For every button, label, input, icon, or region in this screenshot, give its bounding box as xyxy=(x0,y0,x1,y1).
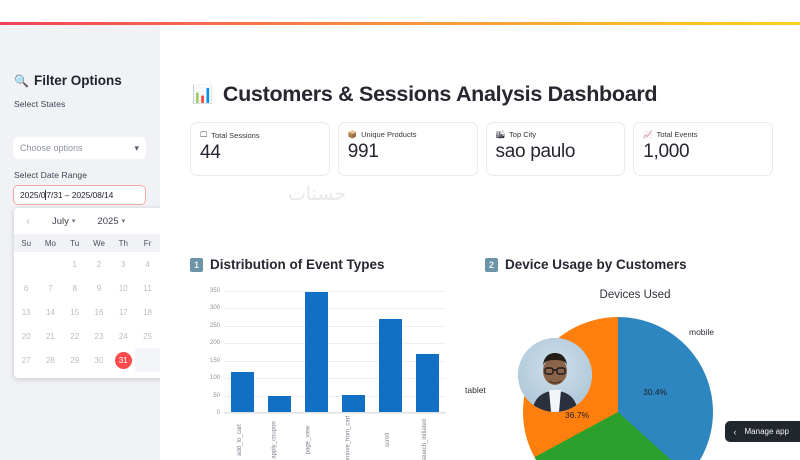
calendar-day[interactable]: 24 xyxy=(111,324,135,348)
bar-wrapper xyxy=(261,291,298,413)
calendar-day[interactable]: 11 xyxy=(135,276,159,300)
calendar-day[interactable]: 1 xyxy=(63,252,87,276)
bar[interactable] xyxy=(379,319,402,413)
calendar-day[interactable]: 20 xyxy=(14,324,38,348)
states-placeholder: Choose options xyxy=(20,143,83,153)
cityscape-icon: 🏙 xyxy=(496,130,506,139)
metric-card: 🖵Total Sessions44 xyxy=(190,122,330,176)
bar-chart-x-tick-label: scroll xyxy=(385,433,391,447)
bar-wrapper xyxy=(372,291,409,413)
bar-chart-x-tick-label: page_view xyxy=(306,426,312,455)
metric-card: 📦Unique Products991 xyxy=(338,122,478,176)
bar-chart-y-tick-label: 350 xyxy=(210,288,220,294)
chart-increasing-icon: 📈 xyxy=(643,130,652,139)
calendar-day[interactable]: 10 xyxy=(111,276,135,300)
sidebar-title: 🔍 Filter Options xyxy=(14,73,122,88)
metric-card-label-text: Total Sessions xyxy=(211,131,259,140)
calendar-weekday-row: SuMoTuWeThFrSa xyxy=(14,234,184,252)
page-title: 📊 Customers & Sessions Analysis Dashboar… xyxy=(192,82,657,107)
calendar-header: ‹ July ▾ 2025 ▾ › xyxy=(14,208,184,234)
metric-card-value: sao paulo xyxy=(496,141,616,163)
bar-chart-x-tick-label: search_initiated xyxy=(422,419,428,460)
calendar-day[interactable]: 14 xyxy=(38,300,62,324)
bar-wrapper xyxy=(224,291,261,413)
calendar-day[interactable]: 28 xyxy=(38,348,62,372)
calendar-year-label: 2025 xyxy=(97,216,118,227)
metric-card-label-text: Top City xyxy=(509,130,536,139)
calendar-day[interactable]: 4 xyxy=(135,252,159,276)
page-title-text: Customers & Sessions Analysis Dashboard xyxy=(223,82,657,107)
calendar-weekday: Fr xyxy=(135,234,159,252)
bar-chart-event-types: 050100150200250300350 add_to_cartapply_c… xyxy=(190,283,455,460)
magnifier-icon: 🔍 xyxy=(14,74,29,88)
calendar-day[interactable]: 16 xyxy=(87,300,111,324)
calendar-day[interactable]: 2 xyxy=(87,252,111,276)
sidebar: 🔍 Filter Options Select States Choose op… xyxy=(0,25,160,460)
calendar-day[interactable]: 23 xyxy=(87,324,111,348)
metric-card: 🏙Top Citysao paulo xyxy=(486,122,626,176)
bar-chart-y-tick-label: 300 xyxy=(210,305,220,311)
metric-card-label: 📦Unique Products xyxy=(348,130,468,139)
calendar-day[interactable]: 6 xyxy=(14,276,38,300)
bar-chart-y-tick-label: 100 xyxy=(210,375,220,381)
bar[interactable] xyxy=(342,395,365,413)
bar-chart-x-tick-label: apply_coupon xyxy=(271,421,277,458)
calendar-day[interactable]: 7 xyxy=(38,276,62,300)
section-header-device-usage: 2 Device Usage by Customers xyxy=(485,257,687,272)
select-states-label: Select States xyxy=(14,99,65,109)
metric-card-label: 📈Total Events xyxy=(643,130,763,139)
chevron-down-icon: ▾ xyxy=(72,217,76,225)
bar-wrapper xyxy=(298,291,335,413)
calendar-weekday: Th xyxy=(111,234,135,252)
calendar-weekday: Su xyxy=(14,234,38,252)
metric-card: 📈Total Events1,000 xyxy=(633,122,773,176)
manage-app-button[interactable]: ‹ Manage app xyxy=(725,421,800,442)
x-tick-cell: scroll xyxy=(373,415,404,443)
x-tick-cell: search_initiated xyxy=(404,415,446,443)
calendar-day[interactable]: 15 xyxy=(63,300,87,324)
bar-chart-x-tick-label: add_to_cart xyxy=(237,424,243,456)
calendar-day-label: 31 xyxy=(115,352,132,369)
calendar-day-empty xyxy=(14,252,38,276)
states-multiselect[interactable]: Choose options ▾ xyxy=(13,137,146,159)
bar-chart-x-axis xyxy=(224,412,446,413)
user-avatar[interactable] xyxy=(518,338,592,412)
bar-chart-x-tick-label: remove_from_cart xyxy=(346,416,352,460)
calendar-weekday: We xyxy=(87,234,111,252)
calendar-prev-month-button[interactable]: ‹ xyxy=(22,216,34,227)
bar-wrapper xyxy=(335,291,372,413)
bar-chart-y-tick-label: 50 xyxy=(213,393,220,399)
x-tick-cell: apply_coupon xyxy=(256,415,293,443)
bar-chart-bars xyxy=(224,291,446,413)
x-tick-cell: page_view xyxy=(293,415,324,443)
calendar-year-select[interactable]: 2025 ▾ xyxy=(97,216,125,227)
desktop-computer-icon: 🖵 xyxy=(200,130,207,140)
calendar-weekday: Mo xyxy=(38,234,62,252)
bar-wrapper xyxy=(409,291,446,413)
date-picker-popover[interactable]: ‹ July ▾ 2025 ▾ › SuMoTuWeThFrSa 1234567… xyxy=(14,208,184,378)
watermark: حسنات xyxy=(288,183,346,206)
calendar-day[interactable]: 8 xyxy=(63,276,87,300)
calendar-day[interactable]: 29 xyxy=(63,348,87,372)
pie-percent-tablet: 36.7% xyxy=(565,410,589,420)
metric-card-value: 44 xyxy=(200,142,320,164)
date-value-end: 7/31 – 2025/08/14 xyxy=(46,190,113,200)
select-date-range-label: Select Date Range xyxy=(14,170,87,180)
main-content: 📊 Customers & Sessions Analysis Dashboar… xyxy=(160,25,800,460)
bar-chart-y-tick-label: 150 xyxy=(210,358,220,364)
package-icon: 📦 xyxy=(348,130,357,139)
metric-card-label: 🖵Total Sessions xyxy=(200,130,320,140)
bar-chart-y-tick-label: 250 xyxy=(210,323,220,329)
calendar-day-empty xyxy=(38,252,62,276)
chevron-down-icon: ▾ xyxy=(122,217,126,225)
calendar-day[interactable]: 22 xyxy=(63,324,87,348)
pie-percent-mobile: 30.4% xyxy=(643,387,667,397)
bar-chart-x-tick-labels: add_to_cartapply_couponpage_viewremove_f… xyxy=(224,415,446,443)
section-badge: 2 xyxy=(485,258,498,272)
bar[interactable] xyxy=(305,292,328,413)
section-title: Distribution of Event Types xyxy=(210,257,385,272)
calendar-day[interactable]: 3 xyxy=(111,252,135,276)
calendar-month-select[interactable]: July ▾ xyxy=(52,216,75,227)
x-tick-cell: remove_from_cart xyxy=(324,415,373,443)
calendar-weekday: Tu xyxy=(63,234,87,252)
bar[interactable] xyxy=(416,354,439,413)
calendar-day[interactable]: 21 xyxy=(38,324,62,348)
pie-label-tablet: tablet xyxy=(465,385,486,395)
metric-card-label: 🏙Top City xyxy=(496,130,616,139)
sidebar-title-text: Filter Options xyxy=(34,73,122,88)
bar[interactable] xyxy=(231,372,254,413)
calendar-day[interactable]: 25 xyxy=(135,324,159,348)
metric-card-label-text: Unique Products xyxy=(361,130,416,139)
calendar-day[interactable]: 30 xyxy=(87,348,111,372)
calendar-day[interactable]: 17 xyxy=(111,300,135,324)
app-root: Share ☆ ╱ ⎕ ⋮ 🔍 Filter Options Select St… xyxy=(0,0,800,460)
bar-chart-icon: 📊 xyxy=(192,85,213,105)
metric-card-row: 🖵Total Sessions44📦Unique Products991🏙Top… xyxy=(190,122,773,176)
calendar-day-empty xyxy=(135,348,159,372)
calendar-day[interactable]: 27 xyxy=(14,348,38,372)
metric-card-value: 991 xyxy=(348,141,468,163)
pie-label-mobile: mobile xyxy=(689,327,714,337)
bar-chart-y-tick-label: 200 xyxy=(210,340,220,346)
metric-card-label-text: Total Events xyxy=(657,130,698,139)
text-cursor xyxy=(45,190,46,200)
bar-chart-y-tick-label: 0 xyxy=(217,410,220,416)
gridline xyxy=(224,413,446,414)
bar[interactable] xyxy=(268,396,291,413)
calendar-day[interactable]: 18 xyxy=(135,300,159,324)
bar-chart-plot-area: 050100150200250300350 xyxy=(224,291,446,413)
calendar-day[interactable]: 13 xyxy=(14,300,38,324)
date-value-start: 2025/0 xyxy=(20,190,45,200)
chevron-left-icon: ‹ xyxy=(734,427,737,437)
pie-chart-title: Devices Used xyxy=(485,289,785,301)
calendar-month-label: July xyxy=(52,216,69,227)
chevron-down-icon[interactable]: ▾ xyxy=(134,143,139,154)
manage-app-label: Manage app xyxy=(745,427,789,436)
section-title: Device Usage by Customers xyxy=(505,257,687,272)
x-tick-cell: add_to_cart xyxy=(224,415,256,443)
metric-card-value: 1,000 xyxy=(643,141,763,163)
calendar-day-grid[interactable]: 1234567891011121314151617181920212223242… xyxy=(14,252,184,372)
calendar-day[interactable]: 9 xyxy=(87,276,111,300)
date-range-input[interactable]: 2025/0 7/31 – 2025/08/14 xyxy=(13,185,146,205)
section-badge: 1 xyxy=(190,258,203,272)
section-header-event-types: 1 Distribution of Event Types xyxy=(190,257,385,272)
calendar-day-selected[interactable]: 31 xyxy=(111,348,135,372)
